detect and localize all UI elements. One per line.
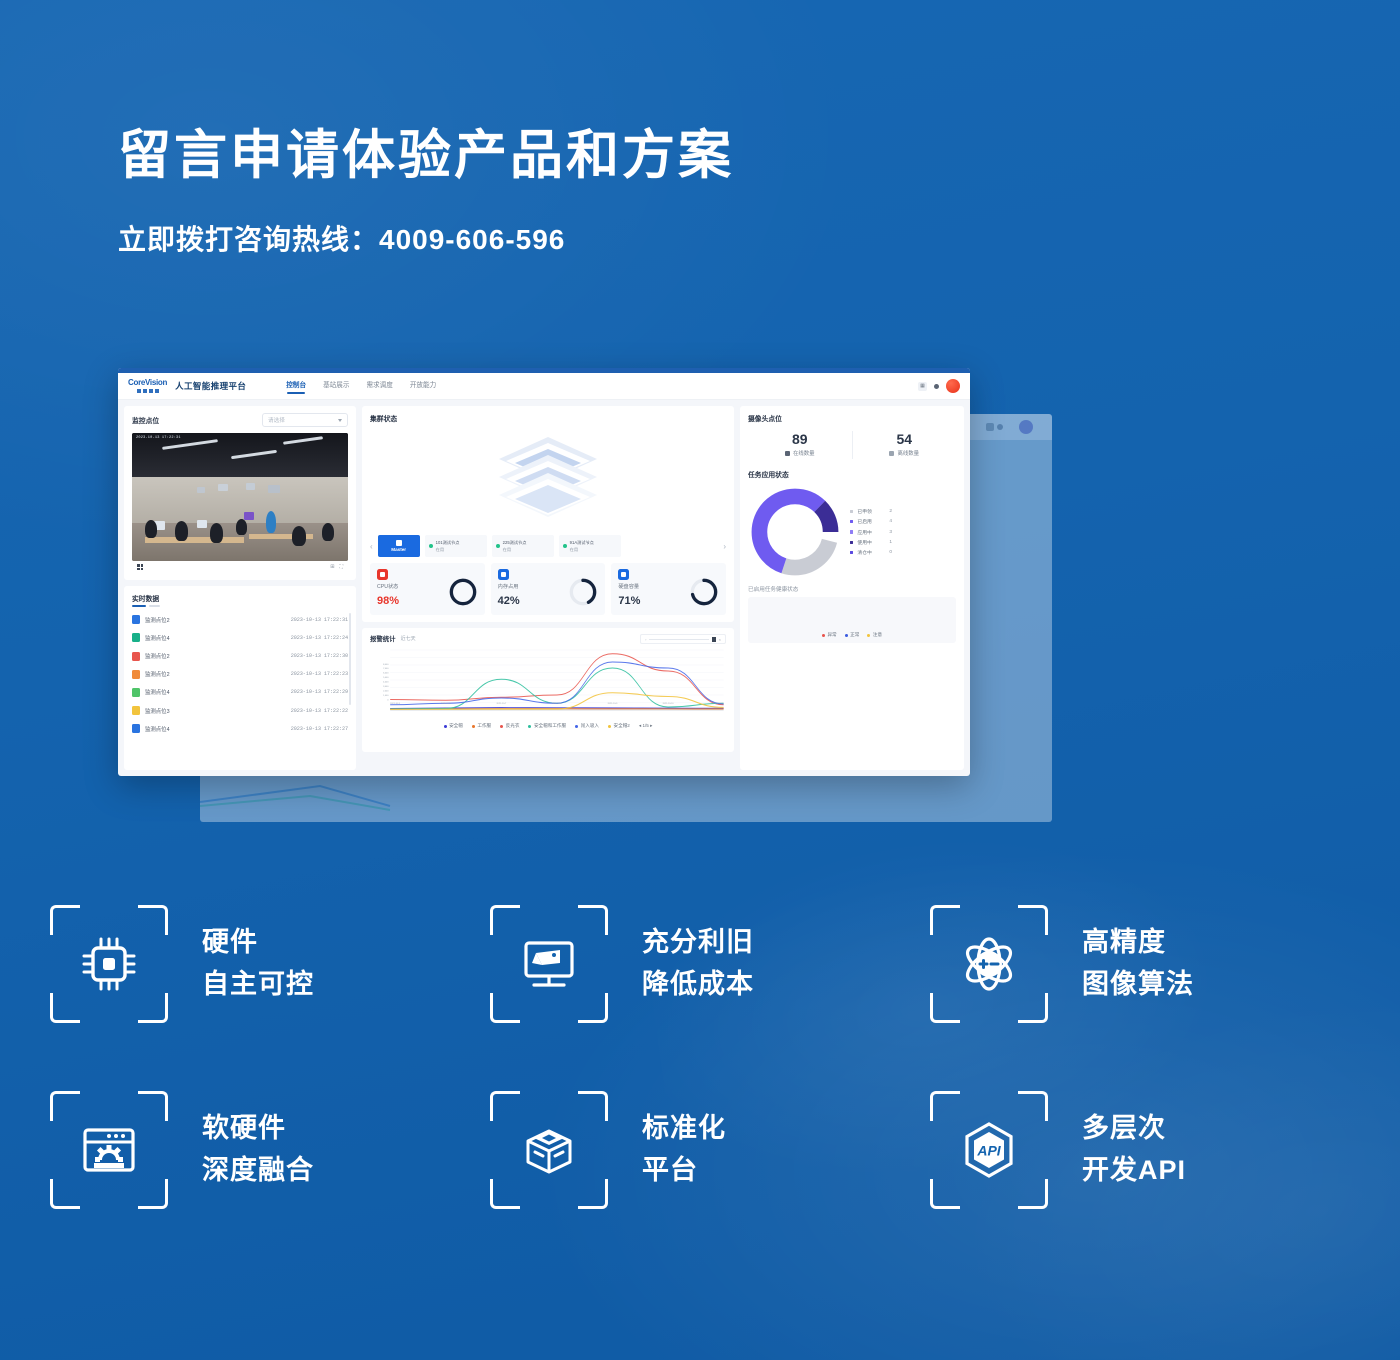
legend-item: 应用中 3 bbox=[850, 529, 892, 536]
person bbox=[175, 521, 188, 541]
middle-column: 集群状态 bbox=[362, 406, 734, 770]
slider-track bbox=[649, 639, 708, 640]
wall-poster bbox=[218, 484, 228, 491]
list-scrollbar[interactable] bbox=[349, 613, 351, 705]
disk-gauge-icon bbox=[689, 577, 719, 607]
feature-text: 充分利旧 降低成本 bbox=[642, 922, 754, 1006]
legend-swatch bbox=[472, 725, 475, 728]
legend-item[interactable]: 安全帽和工作服 bbox=[528, 723, 566, 729]
video-feed[interactable]: 2023-10-13 17:22:31 bbox=[132, 433, 348, 561]
nav-right-controls: ▦ bbox=[918, 379, 960, 393]
feature-integration: 软硬件 深度融合 bbox=[40, 1091, 480, 1209]
cluster-node[interactable]: 91A测试节点 在用 bbox=[559, 535, 621, 557]
legend-item: 已启用 4 bbox=[850, 518, 892, 525]
chart-title: 报警统计 bbox=[370, 634, 396, 643]
legend-item: 异常 bbox=[822, 632, 837, 638]
legend-item[interactable]: 安全帽2 bbox=[608, 723, 630, 729]
feature-api: API 多层次 开发API bbox=[920, 1091, 1360, 1209]
point-name: 监测点位2 bbox=[145, 670, 286, 678]
left-column: 监控点位 请选择 bbox=[124, 406, 356, 770]
cube-box-icon bbox=[518, 1119, 580, 1181]
point-time: 2023-10-13 17:22:24 bbox=[291, 635, 348, 641]
legend-swatch bbox=[528, 725, 531, 728]
realtime-tabs bbox=[132, 605, 348, 607]
master-node-chip[interactable]: Master bbox=[378, 535, 420, 557]
legend-item: 使用中 1 bbox=[850, 539, 892, 546]
point-name: 监测点位3 bbox=[145, 707, 286, 715]
alarm-chart-card: 报警统计 近七天 ◦ × 01,0002,0003,0004,0005,0006… bbox=[362, 628, 734, 752]
legend-item[interactable]: 反光衣 bbox=[500, 723, 519, 729]
legend-label: 正常 bbox=[850, 632, 859, 638]
nav-item-openability[interactable]: 开放能力 bbox=[410, 379, 436, 394]
metric-left: 硬盘容量 71% bbox=[618, 569, 640, 607]
monitor-point-header: 监控点位 请选择 bbox=[132, 413, 348, 427]
feature-hardware: 硬件 自主可控 bbox=[40, 905, 480, 1023]
select-placeholder: 请选择 bbox=[268, 416, 285, 424]
legend-value: 4 bbox=[889, 519, 892, 524]
person bbox=[210, 523, 223, 543]
platform-name: 人工智能推理平台 bbox=[175, 380, 246, 392]
metric-label: 内存占用 bbox=[498, 583, 520, 590]
dashboard-window: CoreVision 人工智能推理平台 控制台 基站展示 需求调度 开放能力 ▦ bbox=[118, 368, 970, 776]
legend-swatch bbox=[822, 634, 825, 637]
node-name: 101测试节点 bbox=[436, 540, 460, 546]
camera-point-card: 摄像头点位 89 在线数量 54 bbox=[740, 406, 964, 770]
monitor-point-title: 监控点位 bbox=[132, 415, 159, 425]
user-avatar[interactable] bbox=[946, 379, 960, 393]
svg-text:2021-10-4: 2021-10-4 bbox=[441, 703, 452, 705]
chart-legend: 安全帽工作服反光衣安全帽和工作服闯入吸入安全帽2◂ 1/5 ▸ bbox=[370, 723, 726, 729]
alert-type-icon bbox=[132, 688, 140, 697]
point-time: 2023-10-13 17:22:23 bbox=[291, 671, 348, 677]
legend-item[interactable]: 工作服 bbox=[472, 723, 491, 729]
feature-line2: 降低成本 bbox=[642, 964, 754, 1006]
video-toolbar: ⊞ ⛶ bbox=[132, 561, 348, 573]
cluster-illustration bbox=[370, 423, 726, 535]
point-time: 2023-10-13 17:22:29 bbox=[291, 689, 348, 695]
chevron-right-icon[interactable]: › bbox=[723, 542, 726, 551]
alert-type-icon bbox=[132, 724, 140, 733]
point-time: 2023-10-13 17:22:27 bbox=[291, 726, 348, 732]
legend-label: 安全帽和工作服 bbox=[534, 723, 566, 729]
legend-label: 已申领 bbox=[857, 508, 885, 515]
alert-type-icon bbox=[132, 706, 140, 715]
svg-text:2021-10-3: 2021-10-3 bbox=[390, 703, 401, 705]
legend-swatch bbox=[575, 725, 578, 728]
logo-text: CoreVision bbox=[128, 379, 167, 387]
status-dot-icon bbox=[563, 544, 567, 548]
feature-text: 多层次 开发API bbox=[1082, 1108, 1186, 1192]
grid-view-icon[interactable] bbox=[137, 564, 143, 570]
svg-text:2,000: 2,000 bbox=[383, 690, 389, 692]
feature-reuse: 充分利旧 降低成本 bbox=[480, 905, 920, 1023]
svg-text:2021-10-7: 2021-10-7 bbox=[496, 703, 507, 705]
point-name: 监测点位2 bbox=[145, 652, 286, 660]
status-dot-icon bbox=[429, 544, 433, 548]
cpu-gauge-icon bbox=[448, 577, 478, 607]
feature-line1: 硬件 bbox=[202, 922, 314, 964]
legend-pager[interactable]: ◂ 1/5 ▸ bbox=[639, 723, 653, 729]
legend-item: 已申领 2 bbox=[850, 508, 892, 515]
cpu-chip-icon bbox=[78, 933, 140, 995]
metric-value: 42% bbox=[498, 595, 520, 607]
health-legend: 异常 正常 注意 bbox=[748, 632, 956, 638]
list-item[interactable]: 监测点位4 2023-10-13 17:22:27 bbox=[132, 720, 348, 738]
logo: CoreVision bbox=[128, 379, 167, 393]
metrics-row: CPU状态 98% 内存占用 bbox=[370, 563, 726, 615]
offline-label-row: 离线数量 bbox=[853, 449, 957, 457]
node-status: 在用 bbox=[503, 547, 527, 553]
nav-item-dispatch[interactable]: 需求调度 bbox=[366, 379, 392, 394]
feature-grid: 硬件 自主可控 充分利旧 降低成本 bbox=[0, 905, 1400, 1209]
legend-swatch bbox=[850, 510, 853, 513]
offline-label: 离线数量 bbox=[897, 449, 919, 457]
alert-type-icon bbox=[132, 633, 140, 642]
legend-swatch bbox=[444, 725, 447, 728]
feature-icon-frame: API bbox=[930, 1091, 1048, 1209]
cluster-status-card: 集群状态 bbox=[362, 406, 734, 622]
metric-cpu: CPU状态 98% bbox=[370, 563, 485, 615]
task-legend: 已申领 2 已启用 4 应用中 3 bbox=[850, 508, 892, 557]
feature-line1: 充分利旧 bbox=[642, 922, 754, 964]
feature-line1: 软硬件 bbox=[202, 1108, 314, 1150]
nav-item-console[interactable]: 控制台 bbox=[286, 379, 306, 394]
nav-item-basestation[interactable]: 基站展示 bbox=[323, 379, 349, 394]
chart-range-slider[interactable]: ◦ × bbox=[640, 634, 726, 644]
split-view-icon[interactable]: ⊞ bbox=[330, 564, 334, 570]
health-title: 已启用任务健康状态 bbox=[748, 585, 956, 593]
camera-off-icon bbox=[889, 451, 894, 456]
grid-icon[interactable]: ▦ bbox=[918, 382, 927, 391]
feature-text: 高精度 图像算法 bbox=[1082, 922, 1194, 1006]
legend-label: 注意 bbox=[873, 632, 882, 638]
metric-memory: 内存占用 42% bbox=[491, 563, 606, 615]
legend-swatch bbox=[850, 541, 853, 544]
video-tool-group: ⊞ ⛶ bbox=[330, 564, 343, 570]
node-status: 在用 bbox=[436, 547, 460, 553]
memory-icon bbox=[498, 569, 509, 580]
legend-label: 已启用 bbox=[857, 518, 885, 525]
node-status: 在用 bbox=[570, 547, 594, 553]
memory-gauge-icon bbox=[568, 577, 598, 607]
legend-label: 闯入吸入 bbox=[581, 723, 599, 729]
point-name: 监测点位2 bbox=[145, 616, 286, 624]
svg-text:2021-10-10: 2021-10-10 bbox=[663, 703, 675, 705]
realtime-data-card: 实时数据 监测点位2 2023-10-13 17:22:31 bbox=[124, 586, 356, 770]
feature-icon-frame bbox=[930, 905, 1048, 1023]
svg-text:1,000: 1,000 bbox=[383, 695, 389, 697]
monitor bbox=[244, 512, 254, 520]
server-icon bbox=[396, 540, 402, 546]
person bbox=[322, 523, 334, 541]
node-text: 225测试节点 在用 bbox=[503, 540, 527, 553]
atom-icon bbox=[958, 933, 1020, 995]
legend-value: 2 bbox=[889, 509, 892, 514]
feature-text: 软硬件 深度融合 bbox=[202, 1108, 314, 1192]
right-column: 摄像头点位 89 在线数量 54 bbox=[740, 406, 964, 770]
dashboard-navbar: CoreVision 人工智能推理平台 控制台 基站展示 需求调度 开放能力 ▦ bbox=[118, 373, 970, 400]
cluster-node-row: ‹ Master 101测试节点 在用 bbox=[370, 535, 726, 557]
metric-value: 71% bbox=[618, 595, 640, 607]
page-title: 留言申请体验产品和方案 bbox=[118, 124, 734, 188]
legend-item: 正常 bbox=[845, 632, 860, 638]
feature-icon-frame bbox=[490, 1091, 608, 1209]
alert-type-icon bbox=[132, 615, 140, 624]
svg-text:2021-10-9: 2021-10-9 bbox=[608, 703, 619, 705]
legend-label: 安全帽2 bbox=[614, 723, 630, 729]
realtime-title: 实时数据 bbox=[132, 593, 348, 603]
list-item[interactable]: 监测点位2 2023-10-13 17:22:23 bbox=[132, 665, 348, 683]
feature-text: 硬件 自主可控 bbox=[202, 922, 314, 1006]
tab-indicator[interactable] bbox=[149, 605, 160, 607]
feature-algorithm: 高精度 图像算法 bbox=[920, 905, 1360, 1023]
metric-left: 内存占用 42% bbox=[498, 569, 520, 607]
legend-value: 0 bbox=[889, 550, 892, 555]
metric-value: 98% bbox=[377, 595, 399, 607]
legend-label: 异常 bbox=[827, 632, 836, 638]
metric-disk: 硬盘容量 71% bbox=[611, 563, 726, 615]
legend-swatch bbox=[867, 634, 870, 637]
cpu-icon bbox=[377, 569, 388, 580]
feature-line1: 标准化 bbox=[642, 1108, 726, 1150]
svg-text:7,000: 7,000 bbox=[383, 668, 389, 670]
chart-subtitle: 近七天 bbox=[401, 635, 416, 642]
feature-line2: 图像算法 bbox=[1082, 964, 1194, 1006]
master-label: Master bbox=[391, 547, 406, 552]
hotline-text: 立即拨打咨询热线：4009-606-596 bbox=[118, 218, 734, 258]
legend-swatch bbox=[850, 520, 853, 523]
feature-line2: 平台 bbox=[642, 1150, 726, 1192]
feature-line2: 自主可控 bbox=[202, 964, 314, 1006]
bell-icon[interactable] bbox=[934, 384, 939, 389]
monitor-point-select[interactable]: 请选择 bbox=[262, 413, 348, 427]
list-item[interactable]: 监测点位3 2023-10-13 17:22:22 bbox=[132, 702, 348, 720]
video-wall bbox=[132, 477, 348, 523]
legend-label: 工作服 bbox=[477, 723, 491, 729]
legend-label: 清仓中 bbox=[857, 549, 885, 556]
monitor bbox=[197, 520, 207, 528]
legend-item[interactable]: 安全帽 bbox=[444, 723, 463, 729]
metric-label: CPU状态 bbox=[377, 583, 399, 590]
person bbox=[236, 519, 247, 535]
legend-swatch bbox=[500, 725, 503, 728]
person bbox=[145, 520, 157, 538]
window-gear-icon bbox=[78, 1119, 140, 1181]
svg-text:5,000: 5,000 bbox=[383, 677, 389, 679]
slider-left-handle[interactable]: ◦ bbox=[645, 637, 646, 642]
feature-line1: 多层次 bbox=[1082, 1108, 1186, 1150]
legend-swatch bbox=[850, 530, 853, 533]
camera-offline-stat: 54 离线数量 bbox=[853, 431, 957, 459]
feature-line2: 开发API bbox=[1082, 1150, 1186, 1192]
person bbox=[266, 511, 276, 533]
metric-label: 硬盘容量 bbox=[618, 583, 640, 590]
close-icon[interactable]: × bbox=[719, 637, 721, 642]
realtime-rows: 监测点位2 2023-10-13 17:22:31 监测点位4 2023-10-… bbox=[132, 611, 348, 738]
chevron-down-icon bbox=[338, 419, 342, 422]
video-timestamp: 2023-10-13 17:22:31 bbox=[136, 436, 181, 440]
node-name: 91A测试节点 bbox=[570, 540, 594, 546]
svg-text:3,000: 3,000 bbox=[383, 686, 389, 688]
feature-line2: 深度融合 bbox=[202, 1150, 314, 1192]
feature-icon-frame bbox=[50, 1091, 168, 1209]
point-time: 2023-10-13 17:22:31 bbox=[291, 617, 348, 623]
legend-value: 3 bbox=[889, 530, 892, 535]
legend-label: 反光衣 bbox=[506, 723, 520, 729]
feature-icon-frame bbox=[490, 905, 608, 1023]
svg-text:4,000: 4,000 bbox=[383, 682, 389, 684]
legend-label: 使用中 bbox=[857, 539, 885, 546]
legend-value: 1 bbox=[889, 540, 892, 545]
online-label: 在线数量 bbox=[793, 449, 815, 457]
legend-swatch bbox=[845, 634, 848, 637]
point-time: 2023-10-13 17:22:22 bbox=[291, 708, 348, 714]
cluster-node[interactable]: 225测试节点 在用 bbox=[492, 535, 554, 557]
health-chart-box: 异常 正常 注意 bbox=[748, 597, 956, 643]
feature-icon-frame bbox=[50, 905, 168, 1023]
point-name: 监测点位4 bbox=[145, 688, 286, 696]
wall-poster bbox=[197, 487, 205, 493]
monitor-point-card: 监控点位 请选择 bbox=[124, 406, 356, 580]
chart-plot: 01,0002,0003,0004,0005,0006,0007,0008,00… bbox=[370, 646, 726, 722]
wall-poster bbox=[268, 485, 280, 493]
task-status-title: 任务应用状态 bbox=[748, 469, 956, 479]
chevron-left-icon[interactable]: ‹ bbox=[370, 542, 373, 551]
metric-left: CPU状态 98% bbox=[377, 569, 399, 607]
feature-platform: 标准化 平台 bbox=[480, 1091, 920, 1209]
slider-right-handle[interactable] bbox=[712, 637, 716, 642]
feature-line1: 高精度 bbox=[1082, 922, 1194, 964]
node-text: 91A测试节点 在用 bbox=[570, 540, 594, 553]
server-stack-icon bbox=[493, 433, 603, 525]
svg-text:API: API bbox=[976, 1143, 1001, 1159]
svg-text:2021-10-11: 2021-10-11 bbox=[713, 703, 725, 705]
person bbox=[292, 526, 306, 546]
task-donut-chart bbox=[748, 485, 842, 579]
legend-label: 安全帽 bbox=[449, 723, 463, 729]
fullscreen-icon[interactable]: ⛶ bbox=[339, 564, 343, 570]
feature-text: 标准化 平台 bbox=[642, 1108, 726, 1192]
point-name: 监测点位4 bbox=[145, 634, 286, 642]
cluster-title: 集群状态 bbox=[370, 413, 726, 423]
svg-text:8,000: 8,000 bbox=[383, 664, 389, 666]
disk-icon bbox=[618, 569, 629, 580]
tab-indicator-active[interactable] bbox=[132, 605, 146, 607]
legend-item: 清仓中 0 bbox=[850, 549, 892, 556]
list-item[interactable]: 监测点位4 2023-10-13 17:22:29 bbox=[132, 683, 348, 701]
online-label-row: 在线数量 bbox=[748, 449, 852, 457]
hero-section: 留言申请体验产品和方案 立即拨打咨询热线：4009-606-596 bbox=[118, 124, 734, 258]
chart-axis-labels: 01,0002,0003,0004,0005,0006,0007,0008,00… bbox=[370, 646, 726, 722]
cluster-node[interactable]: 101测试节点 在用 bbox=[425, 535, 487, 557]
list-item[interactable]: 监测点位2 2023-10-13 17:22:30 bbox=[132, 647, 348, 665]
svg-text:2021-10-8: 2021-10-8 bbox=[552, 703, 563, 705]
list-item[interactable]: 监测点位4 2023-10-13 17:22:24 bbox=[132, 629, 348, 647]
nav-items: 控制台 基站展示 需求调度 开放能力 bbox=[286, 379, 436, 394]
offline-count: 54 bbox=[853, 431, 957, 447]
node-text: 101测试节点 在用 bbox=[436, 540, 460, 553]
list-item[interactable]: 监测点位2 2023-10-13 17:22:31 bbox=[132, 611, 348, 629]
dashboard-screenshot: 54 离线数量 CoreVision bbox=[118, 368, 1078, 828]
point-time: 2023-10-13 17:22:30 bbox=[291, 653, 348, 659]
status-dot-icon bbox=[496, 544, 500, 548]
alert-type-icon bbox=[132, 670, 140, 679]
camera-online-stat: 89 在线数量 bbox=[748, 431, 852, 459]
svg-text:0: 0 bbox=[387, 699, 389, 701]
point-name: 监测点位4 bbox=[145, 725, 286, 733]
online-count: 89 bbox=[748, 431, 852, 447]
legend-swatch bbox=[850, 551, 853, 554]
api-hex-icon: API bbox=[958, 1119, 1020, 1181]
legend-label: 应用中 bbox=[857, 529, 885, 536]
wall-poster bbox=[246, 483, 255, 490]
logo-dots-icon bbox=[137, 389, 159, 393]
legend-item[interactable]: 闯入吸入 bbox=[575, 723, 599, 729]
legend-item: 注意 bbox=[867, 632, 882, 638]
task-donut-wrap: 已申领 2 已启用 4 应用中 3 bbox=[748, 485, 956, 579]
desk bbox=[145, 537, 244, 543]
dashboard-body: 监控点位 请选择 bbox=[118, 400, 970, 776]
svg-text:6,000: 6,000 bbox=[383, 673, 389, 675]
camera-panel-title: 摄像头点位 bbox=[748, 413, 956, 423]
node-name: 225测试节点 bbox=[503, 540, 527, 546]
alert-type-icon bbox=[132, 652, 140, 661]
camera-icon bbox=[785, 451, 790, 456]
monitor-cam-icon bbox=[518, 933, 580, 995]
camera-stats: 89 在线数量 54 离线数量 bbox=[748, 431, 956, 459]
legend-swatch bbox=[608, 725, 611, 728]
